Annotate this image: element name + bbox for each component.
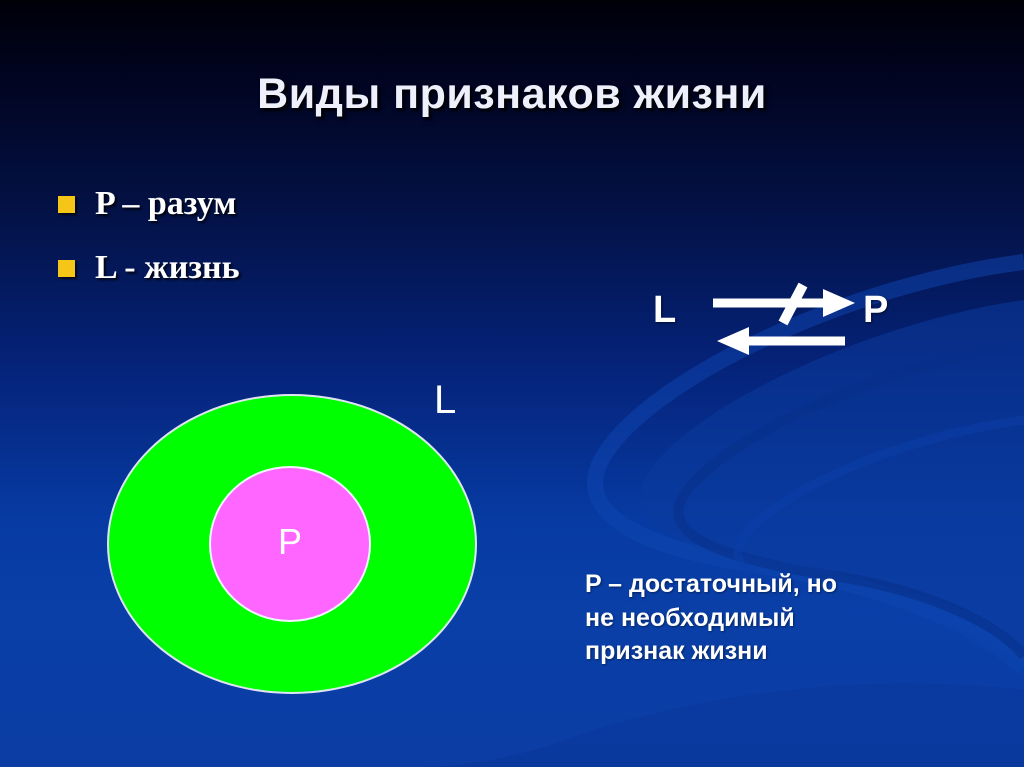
caption-line: признак жизни — [585, 635, 955, 669]
bullet-label: P – разум — [95, 185, 236, 223]
square-bullet-icon — [58, 196, 75, 213]
page-title: Виды признаков жизни — [0, 70, 1024, 119]
bullet-label: L - жизнь — [95, 249, 240, 287]
caption-line: не необходимый — [585, 602, 955, 636]
reaction-left-label: L — [653, 289, 676, 332]
list-item: P – разум — [58, 182, 240, 226]
caption-line: P – достаточный, но — [585, 568, 955, 602]
reaction-right-label: P — [863, 289, 888, 332]
inner-circle-label: P — [278, 524, 302, 564]
slide-canvas: Виды признаков жизни P – разум L - жизнь… — [0, 0, 1024, 767]
caption-text: P – достаточный, но не необходимый призн… — [585, 568, 955, 669]
inner-circle-mind: P — [209, 466, 371, 622]
arrow-right-crossed-icon — [713, 285, 855, 323]
list-item: L - жизнь — [58, 246, 240, 290]
reaction-arrow-diagram: L P — [645, 275, 915, 355]
arrow-left-icon — [717, 327, 845, 355]
outer-ellipse-label: L — [434, 378, 456, 423]
square-bullet-icon — [58, 260, 75, 277]
venn-diagram: P — [105, 392, 481, 698]
outer-ellipse-life: P — [107, 394, 477, 694]
bullet-list: P – разум L - жизнь — [58, 182, 240, 310]
